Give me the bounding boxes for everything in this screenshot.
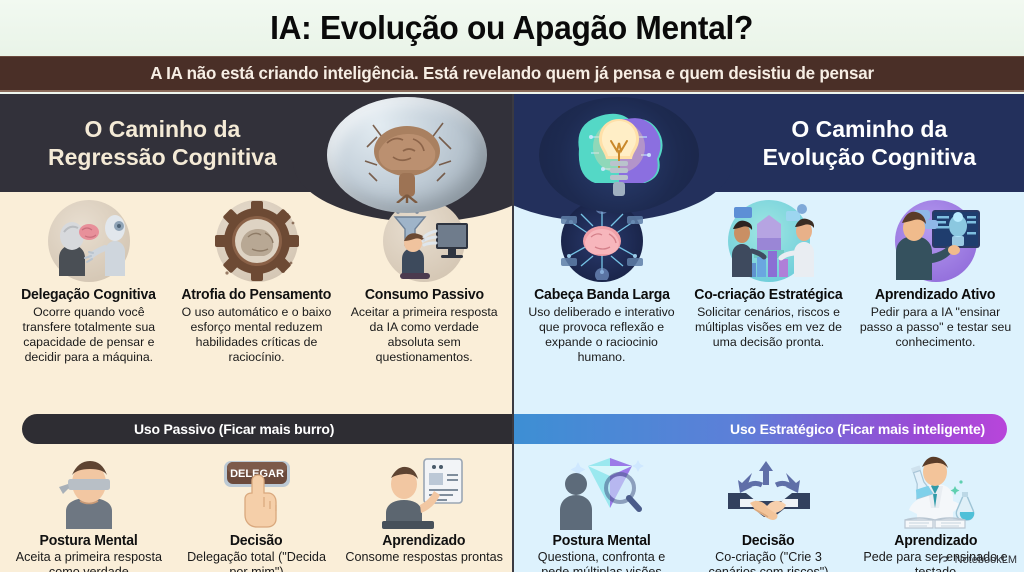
notebooklm-watermark: NotebookLM	[938, 553, 1017, 566]
center-divider	[512, 94, 514, 572]
left-banner-label: Uso Passivo (Ficar mais burro)	[134, 421, 334, 437]
bottom-card-decisao-right: Decisão Co-criação ("Crie 3 cenários com…	[686, 456, 851, 572]
card-heading: Consumo Passivo	[365, 287, 484, 303]
card-delegacao-cognitiva: Delegação Cognitiva Ocorre quando você t…	[6, 198, 172, 366]
left-panel-title: O Caminho da Regressão Cognitiva	[48, 115, 277, 171]
right-banner: Uso Estratégico (Ficar mais inteligente)	[513, 414, 1007, 444]
title-bar: IA: Evolução ou Apagão Mental?	[0, 0, 1024, 56]
bottom-card-postura-mental-left: Postura Mental Aceita a primeira respost…	[6, 456, 172, 572]
right-top-cards: Cabeça Banda Larga Uso deliberado e inte…	[513, 192, 1024, 366]
two-people-building-scenarios-icon	[722, 198, 816, 284]
page-subtitle: A IA não está criando inteligência. Está…	[150, 63, 874, 84]
card-body: Aceita a primeira resposta como verdade	[10, 550, 168, 572]
right-banner-label: Uso Estratégico (Ficar mais inteligente)	[730, 421, 985, 437]
card-heading: Cabeça Banda Larga	[534, 287, 670, 303]
blindfolded-person-icon	[41, 456, 137, 530]
left-top-cards: Delegação Cognitiva Ocorre quando você t…	[0, 192, 513, 366]
left-panel-title-line1: O Caminho da	[84, 116, 240, 142]
card-heading: Delegação Cognitiva	[22, 287, 157, 303]
right-panel-title: O Caminho da Evolução Cognitiva	[763, 115, 976, 171]
left-panel-header: O Caminho da Regressão Cognitiva	[0, 94, 513, 192]
notebooklm-logo-icon	[938, 553, 951, 566]
left-banner: Uso Passivo (Ficar mais burro)	[22, 414, 513, 444]
bottom-card-postura-mental-right: Postura Mental Questiona, confronta e pe…	[519, 456, 684, 572]
right-banner-row: Uso Estratégico (Ficar mais inteligente)	[513, 414, 1024, 448]
left-panel-regression: O Caminho da Regressão Cognitiva	[0, 94, 513, 572]
subtitle-bar: A IA não está criando inteligência. Está…	[0, 56, 1024, 92]
right-panel-title-line2: Evolução Cognitiva	[763, 144, 976, 170]
card-body: Solicitar cenários, riscos e múltiplas v…	[690, 305, 847, 350]
card-body: Delegação total ("Decida por mim")	[178, 550, 336, 572]
bottom-card-decisao-left: DELEGAR Decisão Delegação total ("Decida…	[174, 456, 340, 572]
card-atrofia-do-pensamento: Atrofia do Pensamento O uso automático e…	[174, 198, 340, 366]
person-receiving-ready-made-document-icon	[376, 456, 472, 530]
human-handing-brain-to-robot-icon	[42, 198, 136, 284]
left-bottom-cards: Postura Mental Aceita a primeira respost…	[0, 452, 513, 572]
card-aprendizado-ativo: Aprendizado Ativo Pedir para a IA "ensin…	[853, 198, 1018, 366]
card-cabeca-banda-larga: Cabeça Banda Larga Uso deliberado e inte…	[519, 198, 684, 366]
scientist-with-flask-and-book-icon	[888, 456, 984, 530]
left-panel-title-line2: Regressão Cognitiva	[48, 144, 277, 170]
person-with-gem-and-magnifier-icon	[554, 456, 650, 530]
card-body: Pedir para a IA "ensinar passo a passo" …	[857, 305, 1014, 350]
card-heading: Postura Mental	[552, 533, 650, 549]
card-heading: Atrofia do Pensamento	[182, 287, 332, 303]
watermark-label: NotebookLM	[955, 554, 1017, 566]
glowing-lightbulb-brain-icon	[519, 94, 719, 218]
card-consumo-passivo: Consumo Passivo Aceitar a primeira respo…	[341, 198, 507, 366]
card-body: Co-criação ("Crie 3 cenários com riscos"…	[690, 550, 847, 572]
card-heading: Aprendizado	[383, 533, 466, 549]
person-learning-from-ai-screen-icon	[889, 198, 983, 284]
card-body: Ocorre quando você transfere totalmente …	[10, 305, 168, 366]
brain-inside-rusty-gear-icon	[210, 198, 304, 284]
card-body: Questiona, confronta e pede múltiplas vi…	[523, 550, 680, 572]
card-body: Uso deliberado e interativo que provoca …	[523, 305, 680, 366]
card-body: Aceitar a primeira resposta da IA como v…	[345, 305, 503, 366]
card-body: Consome respostas prontas	[345, 550, 503, 565]
card-co-criacao-estrategica: Co-criação Estratégica Solicitar cenário…	[686, 198, 851, 366]
card-heading: Postura Mental	[40, 533, 138, 549]
handshake-with-branching-arrows-icon	[721, 456, 817, 530]
bottom-card-aprendizado-left: Aprendizado Consome respostas prontas	[341, 456, 507, 572]
card-heading: Decisão	[742, 533, 795, 549]
right-panel-title-line1: O Caminho da	[791, 116, 947, 142]
card-heading: Aprendizado Ativo	[875, 287, 995, 303]
left-banner-row: Uso Passivo (Ficar mais burro)	[0, 414, 513, 448]
card-heading: Decisão	[230, 533, 283, 549]
cracked-brain-in-glass-dome-icon	[307, 94, 507, 218]
right-panel-header: O Caminho da Evolução Cognitiva	[513, 94, 1024, 192]
card-heading: Aprendizado	[894, 533, 977, 549]
page-title: IA: Evolução ou Apagão Mental?	[270, 9, 753, 47]
hand-pressing-delegar-button-icon[interactable]: DELEGAR	[209, 456, 305, 530]
right-panel-evolution: O Caminho da Evolução Cognitiva	[513, 94, 1024, 572]
card-heading: Co-criação Estratégica	[694, 287, 842, 303]
card-body: O uso automático e o baixo esforço menta…	[178, 305, 336, 366]
